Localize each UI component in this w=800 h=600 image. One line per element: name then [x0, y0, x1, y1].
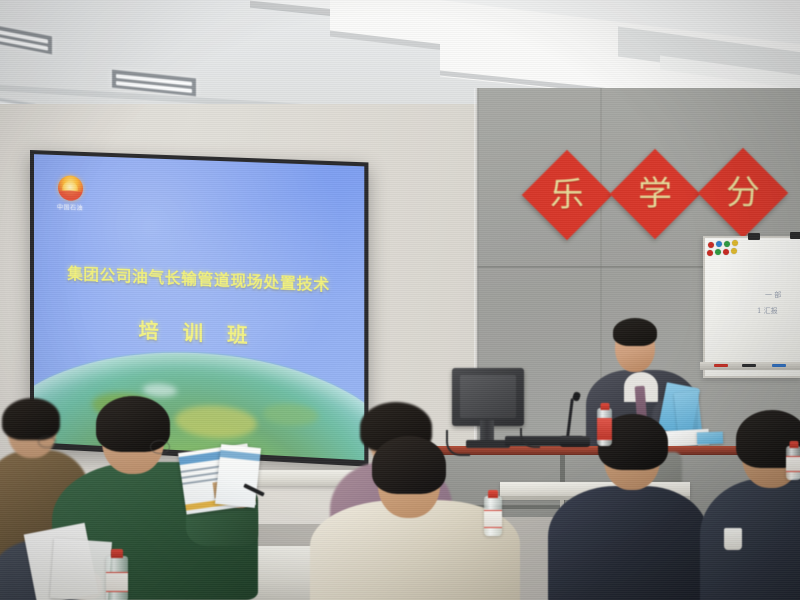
whiteboard-magnet-6[interactable]	[715, 249, 721, 255]
lcd-monitor	[452, 368, 524, 426]
petrochina-sun-logo-icon	[58, 175, 83, 201]
attendee-dark-suit-center-torso	[548, 486, 708, 600]
water-bottle-foreground[interactable]	[106, 556, 128, 600]
water-bottle-podium[interactable]	[597, 408, 612, 446]
attendee-booklet-page-right	[215, 444, 261, 508]
whiteboard-marker-red[interactable]	[714, 364, 728, 367]
bottle-label-foreground	[106, 572, 128, 592]
attendee-brown-jacket-glasses	[38, 436, 56, 448]
banner-diamond-1: 乐	[522, 150, 613, 241]
bottle-cap-podium	[600, 403, 609, 410]
whiteboard-magnet-7[interactable]	[723, 249, 729, 255]
whiteboard-note-line-1: 一 部	[765, 290, 781, 300]
attendee-brown-jacket-hair	[2, 398, 60, 440]
whiteboard-magnet-1[interactable]	[708, 242, 714, 248]
water-bottle-right[interactable]	[786, 446, 800, 480]
whiteboard-marker-blue[interactable]	[772, 364, 786, 367]
whiteboard-magnet-2[interactable]	[716, 241, 722, 247]
whiteboard-clip	[748, 233, 760, 240]
projection-screen-surface: 中国石油 集团公司油气长输管道现场处置技术 培 训 班	[34, 154, 364, 460]
whiteboard-magnet-5[interactable]	[707, 250, 713, 256]
attendee-cream-jacket-hair	[372, 436, 446, 494]
attendee-foreground-left-papers-2	[50, 538, 112, 600]
monitor-cable	[446, 430, 470, 456]
water-bottle-center[interactable]	[484, 496, 502, 536]
whiteboard-magnet-4[interactable]	[732, 240, 738, 246]
presenter-hair	[613, 318, 657, 346]
whiteboard-clip-right	[790, 232, 800, 239]
classroom-photo-scene: 中国石油 集团公司油气长输管道现场处置技术 培 训 班 乐 学 分 一 部 1 …	[0, 0, 800, 600]
podium-blue-folder	[697, 432, 723, 445]
monitor-base	[466, 440, 510, 448]
booklet-right-band	[220, 450, 261, 461]
banner-glyph-2: 学	[623, 162, 687, 226]
whiteboard-magnet-3[interactable]	[724, 241, 730, 247]
microphone-base[interactable]	[560, 436, 590, 447]
whiteboard-magnet-8[interactable]	[731, 248, 737, 254]
bottle-cap-center	[488, 490, 498, 498]
banner-diamond-3: 分	[698, 148, 789, 239]
whiteboard-marker-black[interactable]	[742, 364, 756, 367]
bottle-cap-foreground	[111, 549, 123, 558]
attendee-green-sweater-glasses	[150, 440, 170, 454]
bottle-label-center	[484, 510, 502, 528]
banner-diamond-2: 学	[610, 149, 701, 240]
slide-logo: 中国石油	[50, 175, 90, 213]
bottle-cap-right	[789, 441, 798, 448]
whiteboard-note-line-2: 1 汇报	[757, 306, 778, 316]
banner-glyph-1: 乐	[535, 163, 599, 227]
projection-screen: 中国石油 集团公司油气长输管道现场处置技术 培 训 班	[30, 150, 368, 467]
slide-logo-caption: 中国石油	[50, 202, 90, 213]
banner-glyph-3: 分	[711, 161, 775, 225]
bottle-label-right	[786, 456, 800, 472]
paper-cup[interactable]	[724, 528, 742, 550]
whiteboard: 一 部 1 汇报	[703, 236, 800, 378]
bottle-label-podium	[597, 418, 612, 440]
